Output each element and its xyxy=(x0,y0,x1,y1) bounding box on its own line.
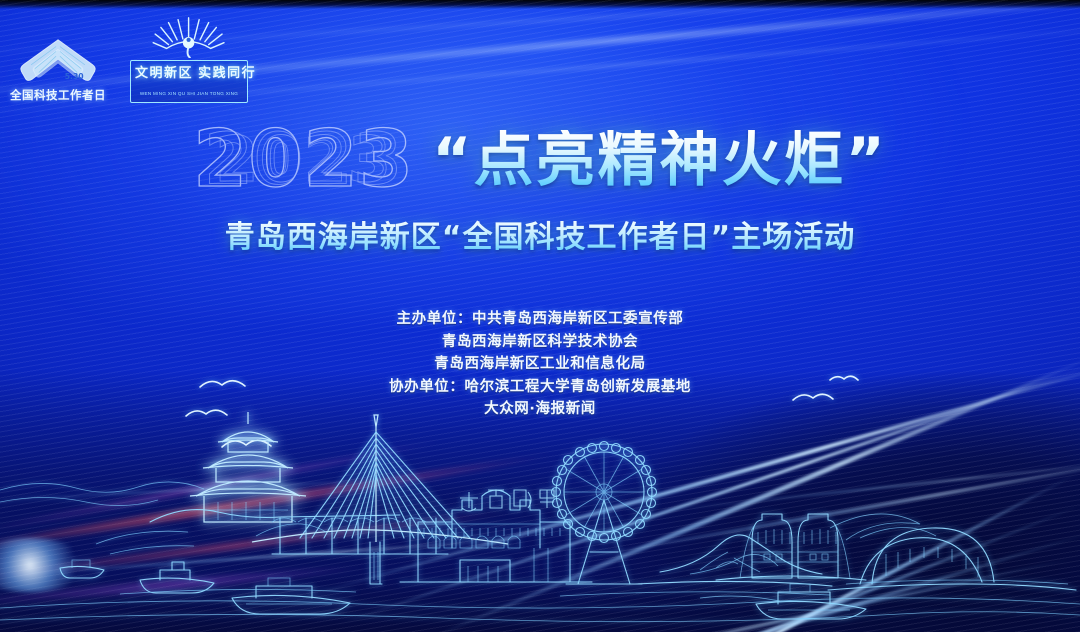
organizer-line: 协办单位：哈尔滨工程大学青岛创新发展基地 xyxy=(0,376,1080,399)
arch-bridge-icon xyxy=(828,528,1076,590)
poster-canvas: 5.30 全国科技工作者日 文明新区 实践同行 WEN MING XIN QU … xyxy=(0,0,1080,632)
civilized-district-logo: 文明新区 实践同行 WEN MING XIN QU SHI JIAN TONG … xyxy=(130,14,248,103)
logo-bar: 5.30 全国科技工作者日 文明新区 实践同行 WEN MING XIN QU … xyxy=(10,14,248,103)
background-top-edge xyxy=(0,0,1080,9)
ferris-wheel-icon xyxy=(552,442,657,585)
peacock-fan-icon xyxy=(136,14,241,58)
main-title-row: 2023 “点亮精神火炬” xyxy=(0,116,1080,204)
organizer-line: 主办单位：中共青岛西海岸新区工委宣传部 xyxy=(0,308,1080,331)
logo-badge-date: 5.30 xyxy=(65,72,84,81)
organizer-line: 大众网·海报新闻 xyxy=(0,398,1080,421)
organizers-block: 主办单位：中共青岛西海岸新区工委宣传部 青岛西海岸新区科学技术协会 青岛西海岸新… xyxy=(0,308,1080,421)
oriental-movie-metropolis-icon xyxy=(400,490,592,582)
organizer-line: 青岛西海岸新区工业和信息化局 xyxy=(0,353,1080,376)
logo-caption: 全国科技工作者日 xyxy=(10,87,106,103)
event-subtitle: 青岛西海岸新区“全国科技工作者日”主场活动 xyxy=(0,212,1080,256)
logo-caption-pinyin: WEN MING XIN QU SHI JIAN TONG XING xyxy=(140,91,238,96)
logo-caption: 文明新区 实践同行 xyxy=(135,65,256,80)
national-science-workers-day-logo: 5.30 全国科技工作者日 xyxy=(10,36,106,103)
ship-icon xyxy=(60,560,350,614)
organizer-line: 青岛西海岸新区科学技术协会 xyxy=(0,331,1080,354)
pagoda-icon xyxy=(190,412,306,522)
twin-towers-icon xyxy=(716,514,866,580)
logo-caption-band: 文明新区 实践同行 WEN MING XIN QU SHI JIAN TONG … xyxy=(130,60,248,103)
year-label: 2023 xyxy=(193,121,414,199)
slogan-title: “点亮精神火炬” xyxy=(432,130,887,190)
hands-holding-shape-icon: 5.30 xyxy=(10,36,106,84)
water-lines xyxy=(0,589,1080,621)
